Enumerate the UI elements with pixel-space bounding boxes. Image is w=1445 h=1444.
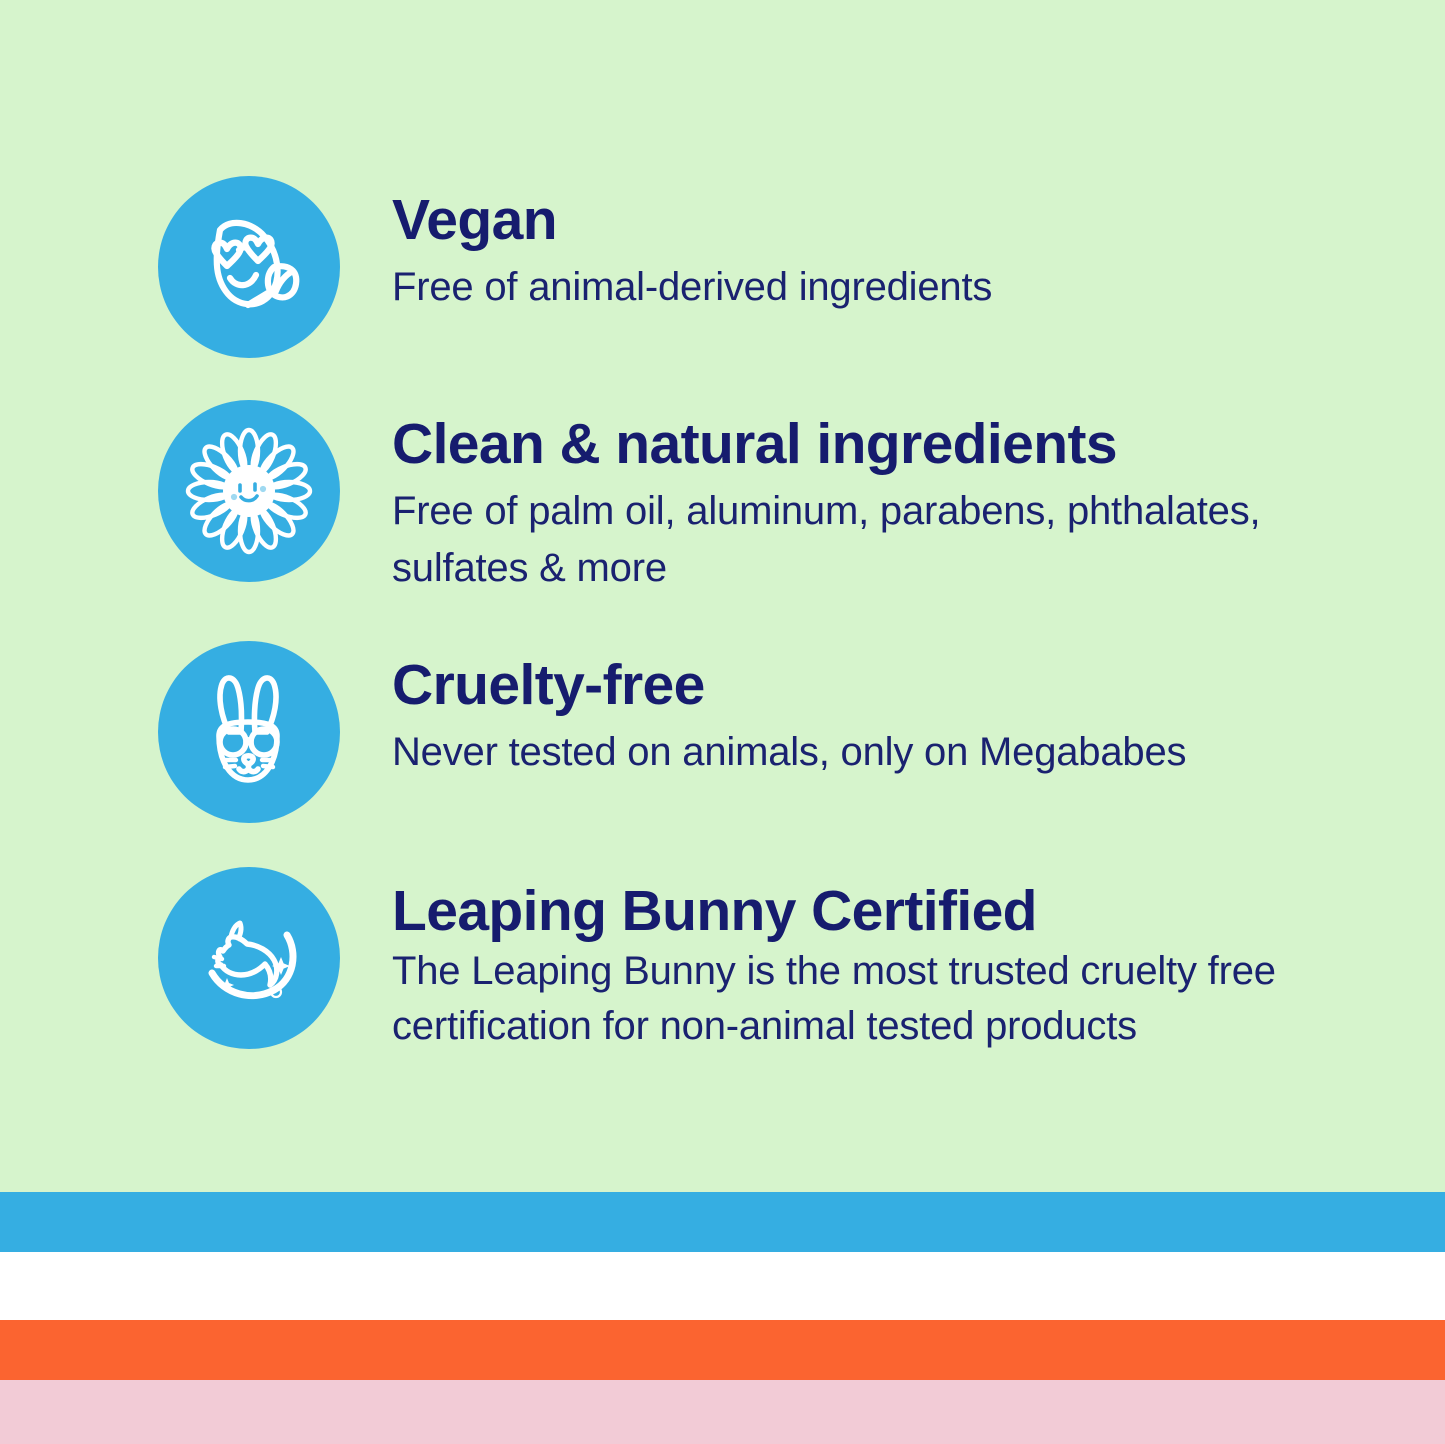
- daisy-flower-face-icon: [158, 400, 340, 582]
- benefit-item-vegan: Vegan Free of animal-derived ingredients: [0, 176, 1445, 358]
- footer-stripes: [0, 1192, 1445, 1444]
- benefit-description: Free of animal-derived ingredients: [392, 259, 1372, 316]
- benefit-item-leaping-bunny: Leaping Bunny Certified The Leaping Bunn…: [0, 867, 1445, 1054]
- pink-stripe: [0, 1380, 1445, 1444]
- orange-stripe: [0, 1320, 1445, 1380]
- benefits-list: Vegan Free of animal-derived ingredients: [0, 0, 1445, 1054]
- benefit-description: Free of palm oil, aluminum, parabens, ph…: [392, 483, 1322, 597]
- benefit-text-block: Clean & natural ingredients Free of palm…: [340, 400, 1385, 597]
- benefit-title: Leaping Bunny Certified: [392, 883, 1385, 940]
- white-stripe: [0, 1252, 1445, 1320]
- benefit-text-block: Leaping Bunny Certified The Leaping Bunn…: [340, 867, 1385, 1054]
- benefit-text-block: Cruelty-free Never tested on animals, on…: [340, 641, 1385, 781]
- blue-stripe: [0, 1192, 1445, 1252]
- benefit-item-clean-natural: Clean & natural ingredients Free of palm…: [0, 400, 1445, 597]
- benefit-title: Cruelty-free: [392, 657, 1385, 714]
- vegan-sprout-face-icon: [158, 176, 340, 358]
- bunny-face-glasses-icon: [158, 641, 340, 823]
- benefit-text-block: Vegan Free of animal-derived ingredients: [340, 176, 1385, 316]
- benefit-title: Vegan: [392, 192, 1385, 249]
- benefit-title: Clean & natural ingredients: [392, 416, 1385, 473]
- benefit-description: The Leaping Bunny is the most trusted cr…: [392, 944, 1352, 1054]
- leaping-bunny-logo-icon: [158, 867, 340, 1049]
- benefit-item-cruelty-free: Cruelty-free Never tested on animals, on…: [0, 641, 1445, 823]
- benefits-poster: Vegan Free of animal-derived ingredients: [0, 0, 1445, 1444]
- benefit-description: Never tested on animals, only on Megabab…: [392, 724, 1372, 781]
